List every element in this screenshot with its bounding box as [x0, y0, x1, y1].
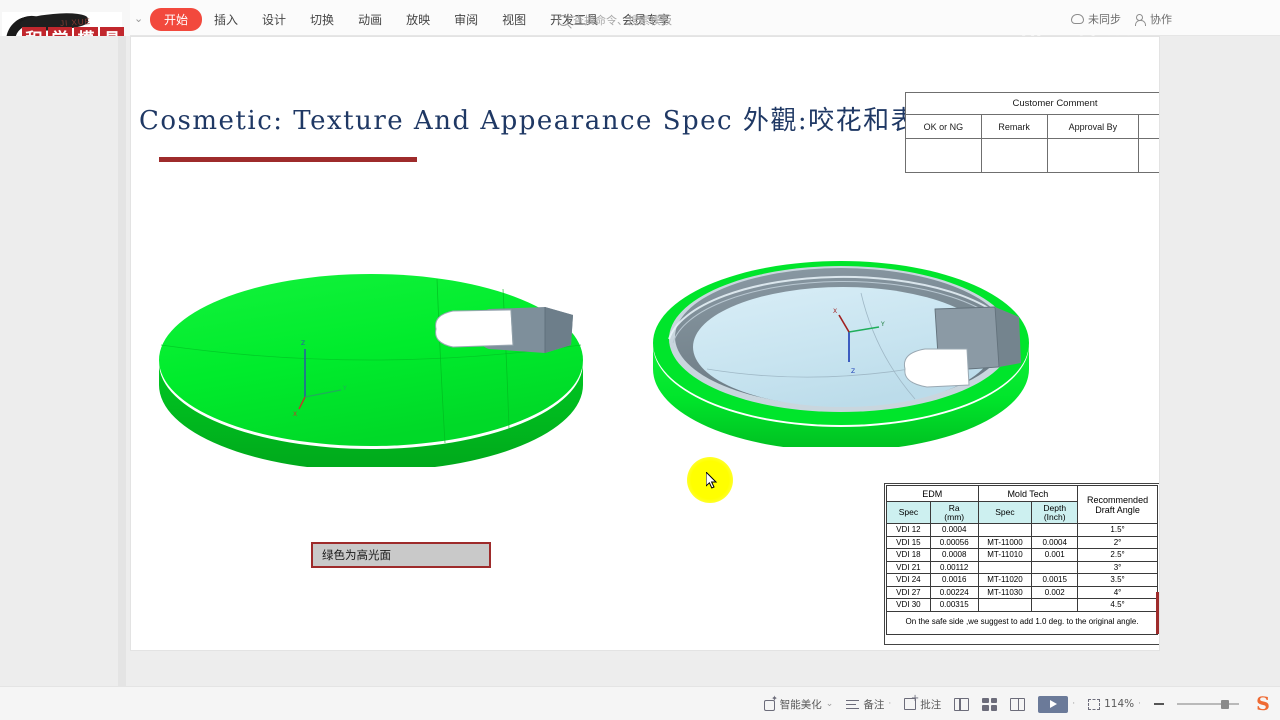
play-chevron-down-icon[interactable]: · — [1072, 699, 1075, 709]
cell-spec: VDI 21 — [887, 561, 931, 574]
smart-beautify-button[interactable]: 智能美化 ⌄ — [764, 697, 834, 712]
cell-ra: 0.00056 — [930, 536, 978, 549]
cc-cell-ok-or-ng — [906, 139, 982, 173]
cell-depth: 0.0004 — [1032, 536, 1078, 549]
cell-spec: VDI 15 — [887, 536, 931, 549]
sync-status-button[interactable]: 未同步 — [1071, 11, 1121, 27]
cc-col-ok-or-ng: OK or NG — [906, 115, 982, 139]
cc-col-date: Da — [1139, 115, 1160, 139]
zoom-slider-knob[interactable] — [1221, 700, 1229, 709]
minus-icon — [1154, 703, 1164, 705]
cell-angle: 2.5° — [1078, 549, 1158, 562]
table-row: VDI 27 0.00224 MT-11030 0.002 4° — [887, 586, 1158, 599]
cell-angle: 4° — [1078, 586, 1158, 599]
search-icon — [558, 15, 569, 26]
collaborate-label: 协作 — [1150, 11, 1172, 27]
cc-cell-date — [1139, 139, 1160, 173]
edm-table-body: VDI 12 0.0004 1.5° VDI 15 0.00056 MT-110… — [887, 524, 1158, 635]
cc-col-approval: Approval By — [1047, 115, 1139, 139]
smart-beautify-label: 智能美化 — [780, 697, 822, 712]
fit-to-window-button[interactable]: 114% · — [1088, 698, 1141, 710]
cell-mt-spec — [978, 599, 1032, 612]
model-cavity-bowl[interactable]: X Y Z — [647, 247, 1047, 447]
svg-text:Z: Z — [301, 340, 305, 347]
table-row: Customer Comment — [906, 93, 1161, 115]
tab-view[interactable]: 视图 — [490, 8, 538, 31]
cell-depth — [1032, 599, 1078, 612]
edm-moldtech-table[interactable]: EDM Mold Tech Recommended Draft Angle Sp… — [886, 485, 1158, 635]
right-edge-red-tick — [1156, 592, 1160, 634]
tab-animation[interactable]: 动画 — [346, 8, 394, 31]
cell-depth: 0.002 — [1032, 586, 1078, 599]
notes-label: 备注 — [863, 697, 884, 712]
cell-spec: VDI 30 — [887, 599, 931, 612]
draft-angle-line1: Recommended — [1079, 495, 1156, 505]
cell-ra: 0.0004 — [930, 524, 978, 537]
table-row: VDI 18 0.0008 MT-11010 0.001 2.5° — [887, 549, 1158, 562]
reading-view-icon — [1010, 698, 1025, 711]
moldtech-col-spec: Spec — [978, 502, 1032, 524]
normal-view-icon — [954, 698, 969, 711]
play-slideshow-button[interactable]: · — [1038, 696, 1075, 713]
cell-depth: 0.001 — [1032, 549, 1078, 562]
cc-cell-approval — [1047, 139, 1139, 173]
slide-canvas[interactable]: Cosmetic: Texture And Appearance Spec 外觀… — [130, 36, 1160, 651]
sparkle-icon — [764, 698, 776, 710]
notes-icon — [846, 699, 859, 710]
sync-status-label: 未同步 — [1088, 11, 1121, 27]
cell-mt-spec: MT-11010 — [978, 549, 1032, 562]
notes-chevron-down-icon[interactable]: · — [888, 699, 891, 709]
thumbnail-pane[interactable] — [0, 36, 122, 686]
play-slideshow-icon — [1038, 696, 1068, 713]
slide-content: Cosmetic: Texture And Appearance Spec 外觀… — [131, 37, 1160, 651]
moldtech-col-depth-line2: (Inch) — [1033, 513, 1076, 522]
cell-mt-spec — [978, 524, 1032, 537]
person-icon — [1135, 14, 1146, 25]
svg-text:Y: Y — [880, 321, 885, 328]
cell-spec: VDI 12 — [887, 524, 931, 537]
view-reading-button[interactable] — [1010, 698, 1025, 711]
cell-ra: 0.0016 — [930, 574, 978, 587]
collaborate-button[interactable]: 协作 — [1135, 11, 1172, 27]
table-row: VDI 21 0.00112 3° — [887, 561, 1158, 574]
cell-spec: VDI 24 — [887, 574, 931, 587]
thumbnail-divider — [118, 36, 126, 686]
zoom-out-button[interactable] — [1154, 703, 1164, 705]
customer-comment-header: Customer Comment — [906, 93, 1161, 115]
table-row: EDM Mold Tech Recommended Draft Angle — [887, 486, 1158, 502]
edm-footnote: On the safe side ,we suggest to add 1.0 … — [887, 611, 1158, 634]
edm-col-ra: Ra (mm) — [930, 502, 978, 524]
view-normal-button[interactable] — [954, 698, 969, 711]
cell-depth — [1032, 524, 1078, 537]
edm-group-header-draft-angle: Recommended Draft Angle — [1078, 486, 1158, 524]
fit-to-window-icon — [1088, 699, 1100, 710]
tab-transition[interactable]: 切换 — [298, 8, 346, 31]
cell-mt-spec: MT-11030 — [978, 586, 1032, 599]
cell-depth — [1032, 561, 1078, 574]
svg-text:X: X — [833, 308, 837, 315]
cell-ra: 0.00112 — [930, 561, 978, 574]
title-underline-rule — [159, 157, 417, 162]
slide-sorter-icon — [982, 698, 997, 711]
notes-toggle-button[interactable]: 备注 · — [846, 697, 891, 712]
edm-group-header-edm: EDM — [887, 486, 979, 502]
top-right-controls: 未同步 协作 — [1071, 11, 1172, 27]
model-core-green-disc[interactable]: Z Y X — [141, 257, 601, 467]
cell-angle: 4.5° — [1078, 599, 1158, 612]
comments-label: 批注 — [920, 697, 941, 712]
ribbon-collapse-icon[interactable]: ⌄ — [134, 12, 143, 25]
tab-design[interactable]: 设计 — [250, 8, 298, 31]
sogou-ime-icon[interactable]: S — [1252, 693, 1274, 715]
table-row — [906, 139, 1161, 173]
cell-angle: 3° — [1078, 561, 1158, 574]
status-bar-right: 智能美化 ⌄ 备注 · 批注 — [764, 687, 1274, 720]
wps-presentation-window: JI XUE 积 学 模 具 ⌄ 开始 插入 设计 切换 动画 放映 审阅 视图… — [0, 0, 1280, 720]
moldtech-col-depth: Depth (Inch) — [1032, 502, 1078, 524]
tab-start[interactable]: 开始 — [150, 8, 202, 31]
table-row: On the safe side ,we suggest to add 1.0 … — [887, 611, 1158, 634]
edm-group-header-moldtech: Mold Tech — [978, 486, 1078, 502]
svg-text:X: X — [293, 411, 297, 418]
cc-cell-remark — [981, 139, 1047, 173]
cell-mt-spec: MT-11000 — [978, 536, 1032, 549]
table-row: VDI 15 0.00056 MT-11000 0.0004 2° — [887, 536, 1158, 549]
zoom-slider[interactable] — [1177, 703, 1239, 705]
cell-ra: 0.00224 — [930, 586, 978, 599]
zoom-level-label: 114% — [1104, 698, 1134, 710]
svg-text:Y: Y — [342, 385, 347, 392]
cell-depth: 0.0015 — [1032, 574, 1078, 587]
cloud-icon — [1071, 14, 1084, 24]
cell-spec: VDI 18 — [887, 549, 931, 562]
status-bar: 智能美化 ⌄ 备注 · 批注 — [0, 686, 1280, 720]
tab-review[interactable]: 审阅 — [442, 8, 490, 31]
cell-angle: 3.5° — [1078, 574, 1158, 587]
add-comment-icon — [904, 698, 916, 710]
search-box[interactable]: 查找命令、搜索模板 — [558, 12, 672, 28]
tab-insert[interactable]: 插入 — [202, 8, 250, 31]
view-sorter-button[interactable] — [982, 698, 997, 711]
svg-text:Z: Z — [851, 368, 855, 375]
cc-col-remark: Remark — [981, 115, 1047, 139]
draft-angle-line2: Draft Angle — [1079, 505, 1156, 515]
green-surface-note-box[interactable]: 绿色为高光面 — [311, 542, 491, 568]
cell-mt-spec — [978, 561, 1032, 574]
mouse-cursor-icon — [706, 472, 718, 490]
cell-angle: 2° — [1078, 536, 1158, 549]
top-bar: JI XUE 积 学 模 具 ⌄ 开始 插入 设计 切换 动画 放映 审阅 视图… — [0, 0, 1280, 36]
table-row: VDI 24 0.0016 MT-11020 0.0015 3.5° — [887, 574, 1158, 587]
table-row: VDI 30 0.00315 4.5° — [887, 599, 1158, 612]
workspace: Cosmetic: Texture And Appearance Spec 外觀… — [0, 36, 1280, 686]
zoom-chevron-down-icon[interactable]: · — [1138, 699, 1141, 709]
cell-ra: 0.0008 — [930, 549, 978, 562]
smart-beautify-chevron-down-icon[interactable]: ⌄ — [826, 699, 834, 709]
cell-ra: 0.00315 — [930, 599, 978, 612]
cell-mt-spec: MT-11020 — [978, 574, 1032, 587]
table-row: VDI 12 0.0004 1.5° — [887, 524, 1158, 537]
tab-slideshow[interactable]: 放映 — [394, 8, 442, 31]
comments-button[interactable]: 批注 — [904, 697, 941, 712]
zoom-slider-track[interactable] — [1177, 703, 1239, 705]
customer-comment-table[interactable]: Customer Comment OK or NG Remark Approva… — [905, 92, 1160, 173]
edm-col-ra-line2: (mm) — [932, 513, 977, 522]
cell-angle: 1.5° — [1078, 524, 1158, 537]
search-placeholder: 查找命令、搜索模板 — [573, 12, 672, 28]
edm-col-spec: Spec — [887, 502, 931, 524]
cell-spec: VDI 27 — [887, 586, 931, 599]
table-row: OK or NG Remark Approval By Da — [906, 115, 1161, 139]
